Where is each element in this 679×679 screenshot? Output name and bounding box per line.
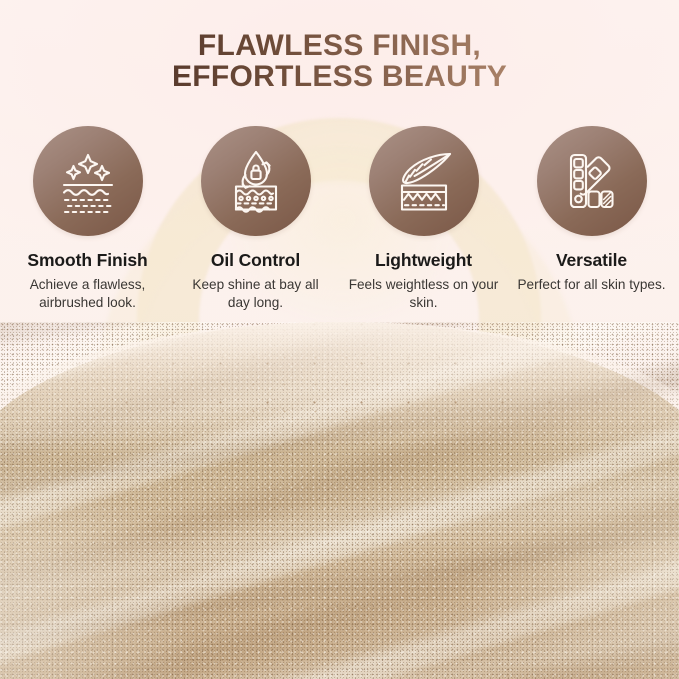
color-swatch-fan-icon (557, 146, 627, 216)
powder-dust-specks (0, 300, 679, 430)
promo-banner: FLAWLESS FINISH, EFFORTLESS BEAUTY (0, 0, 679, 679)
icon-circle-lightweight (369, 126, 479, 236)
powder-highlight-right (459, 422, 679, 679)
feature-list: Smooth Finish Achieve a flawless, airbru… (0, 126, 679, 312)
headline-line-1: FLAWLESS FINISH, (0, 30, 679, 61)
feature-item-lightweight: Lightweight Feels weightless on your ski… (340, 126, 508, 312)
feature-title: Smooth Finish (27, 250, 147, 271)
headline-line-2: EFFORTLESS BEAUTY (0, 61, 679, 92)
oil-droplet-lock-skin-icon (221, 146, 291, 216)
icon-circle-oil-control (201, 126, 311, 236)
icon-circle-smooth-finish (33, 126, 143, 236)
feature-title: Lightweight (375, 250, 472, 271)
powder-highlight-left (0, 442, 200, 679)
feature-item-smooth-finish: Smooth Finish Achieve a flawless, airbru… (4, 126, 172, 312)
headline: FLAWLESS FINISH, EFFORTLESS BEAUTY (0, 30, 679, 92)
feature-title: Versatile (556, 250, 627, 271)
feature-description: Perfect for all skin types. (517, 276, 665, 294)
feature-title: Oil Control (211, 250, 300, 271)
feature-item-oil-control: Oil Control Keep shine at bay all day lo… (172, 126, 340, 312)
powder-product-image (0, 300, 679, 679)
sparkle-skin-icon (53, 146, 123, 216)
feather-skin-icon (389, 146, 459, 216)
icon-circle-versatile (537, 126, 647, 236)
feature-item-versatile: Versatile Perfect for all skin types. (508, 126, 676, 312)
